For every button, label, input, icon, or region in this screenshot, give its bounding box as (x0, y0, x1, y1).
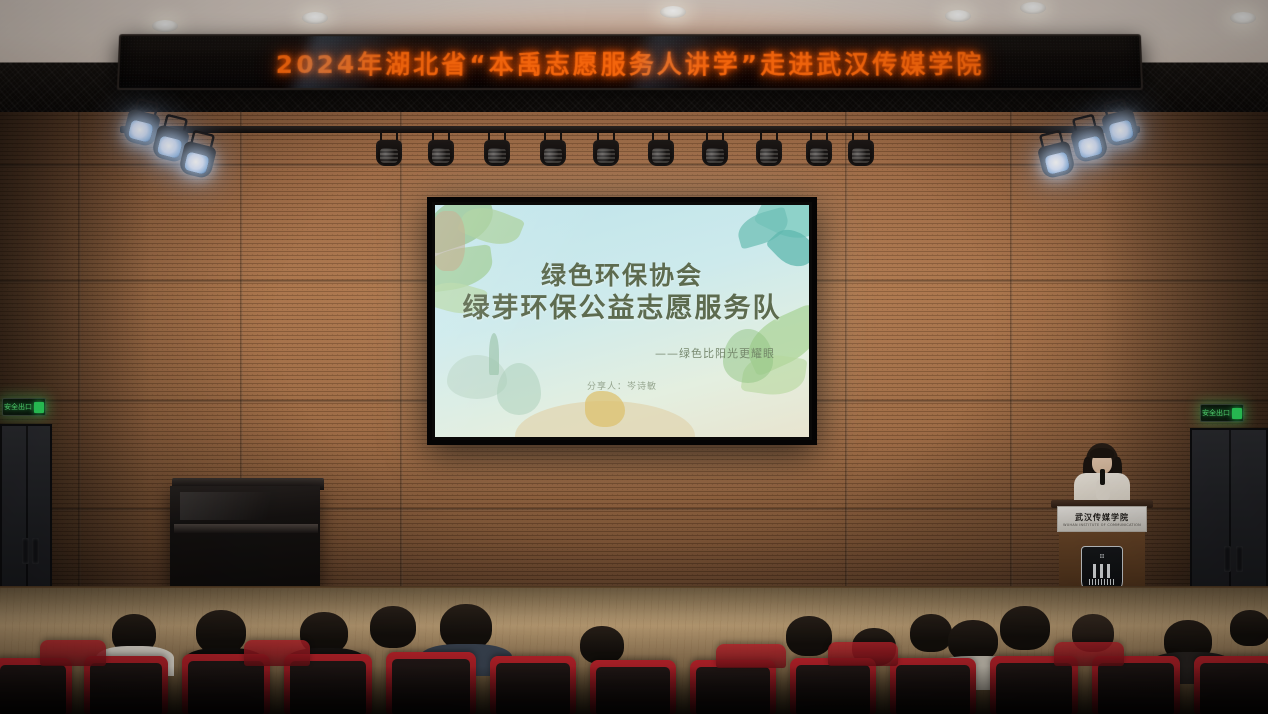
podium-nameplate: 武汉传媒学院 WUHAN INSTITUTE OF COMMUNICATION (1057, 506, 1147, 532)
stage-par-light (540, 130, 566, 166)
ceiling-downlight (152, 20, 178, 32)
upright-piano (170, 478, 322, 602)
slide-title-line1: 绿色环保协会 (435, 260, 809, 292)
audience-seat[interactable] (828, 642, 898, 666)
stage-par-light (806, 130, 832, 166)
audience-head (370, 606, 416, 648)
microphone-icon (1100, 469, 1105, 485)
auditorium-scene: 2024年湖北省“本禹志愿服务人讲学”走进武汉传媒学院 (0, 0, 1268, 714)
audience-head (1000, 606, 1050, 650)
stage-par-light (648, 130, 674, 166)
piano-gloss (180, 492, 308, 520)
exit-sign-label-left: 安全出口 (4, 402, 32, 412)
leaf-decoration (457, 205, 525, 253)
led-banner-text: 2024年湖北省“本禹志愿服务人讲学”走进武汉传媒学院 (119, 45, 1141, 81)
presenter-person (1072, 443, 1132, 505)
stage-par-light (376, 130, 402, 166)
slide-presenter: 分享人：岑诗敏 (435, 379, 809, 392)
piano-fallboard (174, 524, 318, 533)
lighting-truss (120, 126, 1140, 133)
audience-head (1230, 610, 1268, 646)
led-banner: 2024年湖北省“本禹志愿服务人讲学”走进武汉传媒学院 (117, 34, 1143, 90)
foreground-shadow (0, 666, 1268, 714)
sprout-decoration (489, 333, 499, 375)
running-man-icon (1232, 408, 1242, 419)
stage-par-light (756, 130, 782, 166)
stage-par-light (428, 130, 454, 166)
audience-head (910, 614, 952, 652)
ceiling-downlight (302, 12, 328, 24)
presentation-slide: 绿色环保协会 绿芽环保公益志愿服务队 ——绿色比阳光更耀眼 分享人：岑诗敏 (435, 205, 809, 437)
podium-nameplate-en: WUHAN INSTITUTE OF COMMUNICATION (1063, 523, 1141, 527)
flower-decoration (585, 391, 625, 427)
audience-seat[interactable] (1054, 642, 1124, 666)
stage-par-light (484, 130, 510, 166)
ceiling-downlight (1020, 2, 1046, 14)
stage-par-light (702, 130, 728, 166)
exit-sign-label-right: 安全出口 (1202, 408, 1230, 418)
slide-title: 绿色环保协会 绿芽环保公益志愿服务队 (435, 260, 809, 327)
ceiling-downlight (1230, 12, 1256, 24)
slide-title-line2: 绿芽环保公益志愿服务队 (435, 292, 809, 327)
audience-head (786, 616, 832, 656)
stage-par-light (593, 130, 619, 166)
exit-sign-right: 安全出口 (1200, 404, 1244, 422)
audience-seat[interactable] (244, 640, 310, 666)
podium-nameplate-cn: 武汉传媒学院 (1075, 512, 1129, 523)
audience-seat[interactable] (40, 640, 106, 666)
audience-head (580, 626, 624, 664)
exit-sign-left: 安全出口 (2, 398, 46, 416)
running-man-icon (34, 402, 44, 413)
ceiling-downlight (660, 6, 686, 18)
projection-screen: 绿色环保协会 绿芽环保公益志愿服务队 ——绿色比阳光更耀眼 分享人：岑诗敏 (427, 197, 817, 445)
audience-seat[interactable] (716, 644, 786, 668)
slide-subtitle: ——绿色比阳光更耀眼 (655, 345, 775, 361)
ceiling-downlight (945, 10, 971, 22)
stage-par-light (848, 130, 874, 166)
